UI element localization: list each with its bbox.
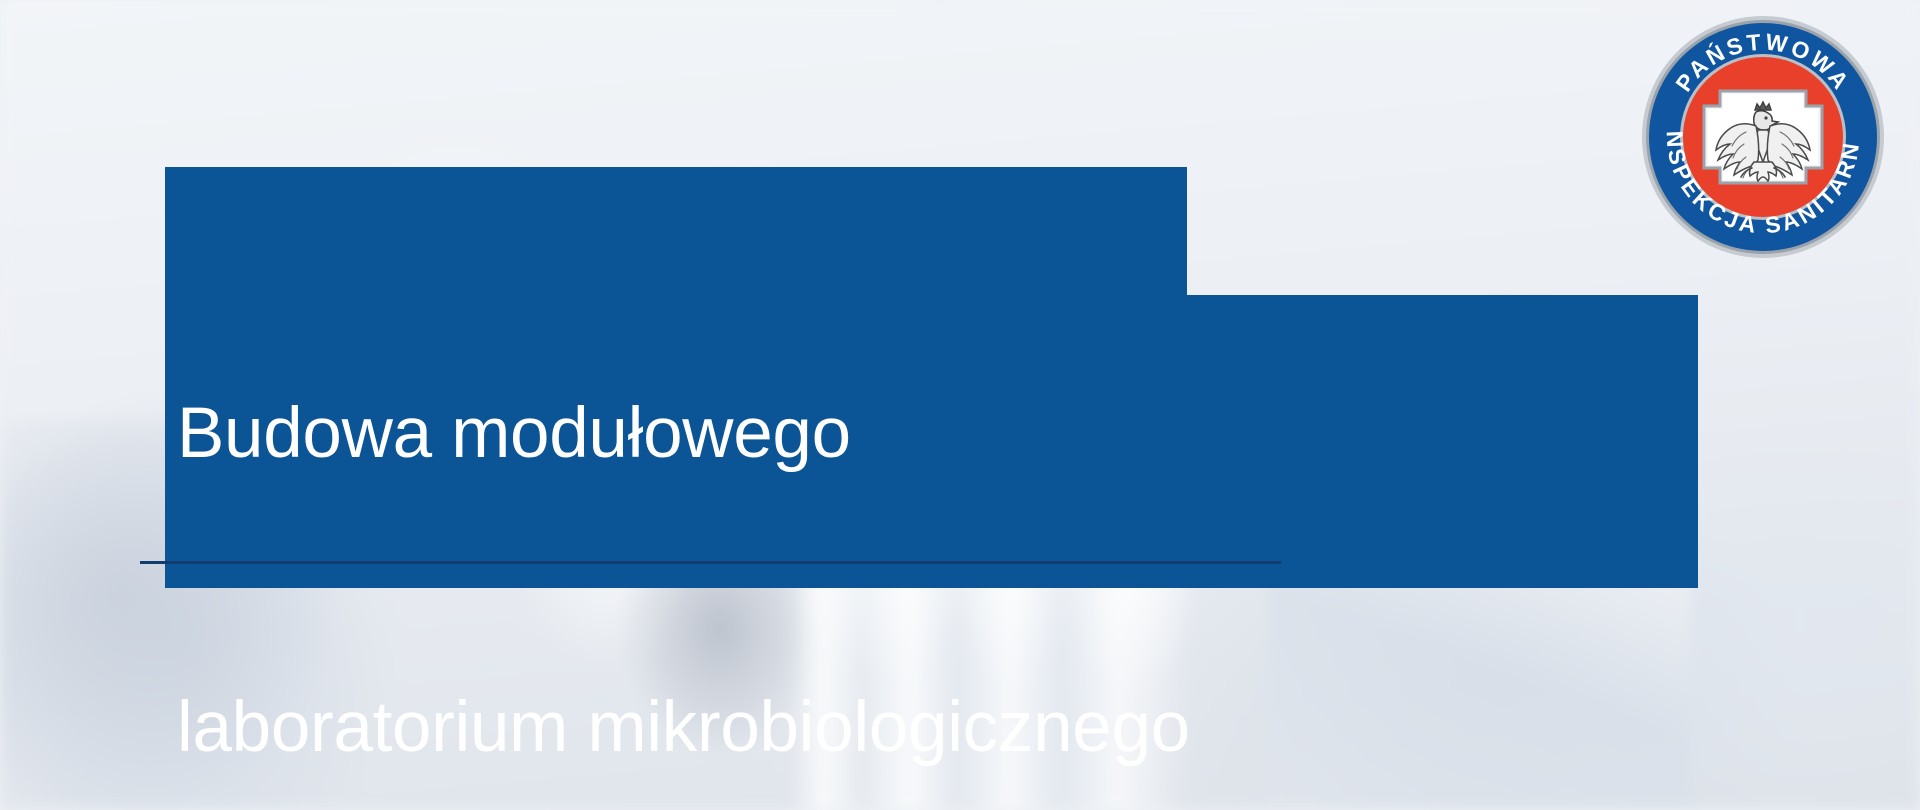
page-title-line-2: laboratorium mikrobiologicznego bbox=[177, 679, 1710, 777]
page-title: Budowa modułowego laboratorium mikrobiol… bbox=[165, 167, 1710, 588]
page-title-line-1: Budowa modułowego bbox=[177, 385, 1710, 483]
horizontal-divider bbox=[140, 561, 1281, 564]
panstwowa-inspekcja-sanitarna-logo: PAŃSTWOWA INSPEKCJA SANITARNA bbox=[1640, 14, 1886, 260]
